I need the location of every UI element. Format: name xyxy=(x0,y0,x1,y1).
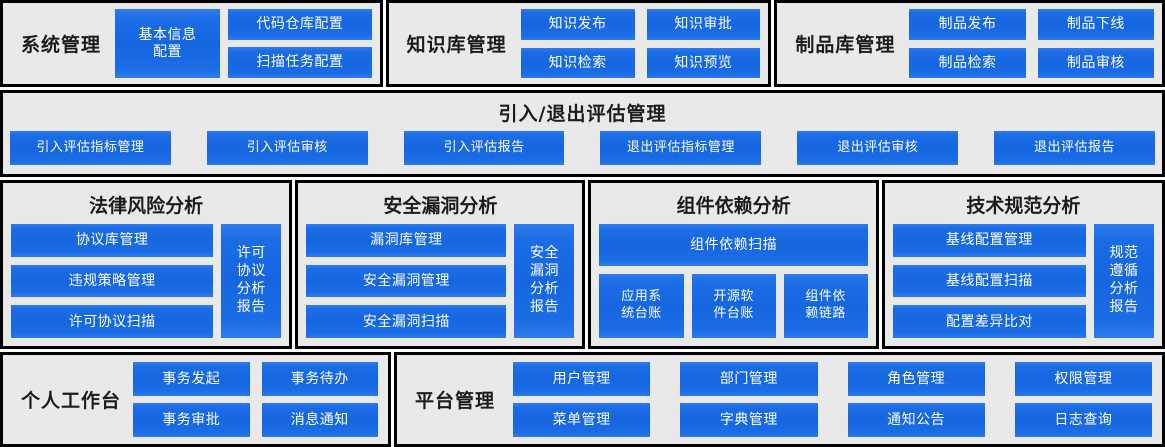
panel-legal-risk-analysis: 法律风险分析 协议库管理 违规策略管理 许可协议扫描 许可 协议 分析 报告 xyxy=(0,180,292,349)
button-role-management[interactable]: 角色管理 xyxy=(848,362,985,396)
button-code-repo-config[interactable]: 代码仓库配置 xyxy=(228,9,372,40)
button-vulnerability-library-management[interactable]: 漏洞库管理 xyxy=(306,224,506,257)
panel-title-component-dependency-analysis: 组件依赖分析 xyxy=(599,188,867,224)
button-config-difference-comparison[interactable]: 配置差异比对 xyxy=(893,305,1086,338)
button-menu-management[interactable]: 菜单管理 xyxy=(513,403,650,437)
button-artifact-offline[interactable]: 制品下线 xyxy=(1038,9,1154,40)
panel-title-knowledge-base-management: 知识库管理 xyxy=(397,30,511,57)
button-entry-eval-audit[interactable]: 引入评估审核 xyxy=(207,131,368,165)
button-license-agreement-scan[interactable]: 许可协议扫描 xyxy=(11,305,213,338)
button-task-todo[interactable]: 事务待办 xyxy=(262,362,379,396)
panel-component-dependency-analysis: 组件依赖分析 组件依赖扫描 应用系 统台账 开源软 件台账 组件依 赖链路 xyxy=(588,180,878,349)
button-log-query[interactable]: 日志查询 xyxy=(1015,403,1152,437)
panel-title-entry-exit-evaluation: 引入/退出评估管理 xyxy=(499,103,667,125)
row-top-modules: 系统管理 基本信息 配置 代码仓库配置 扫描任务配置 知识库管理 知识发布 知识… xyxy=(0,0,1165,87)
button-artifact-audit[interactable]: 制品审核 xyxy=(1038,48,1154,79)
button-entry-eval-report[interactable]: 引入评估报告 xyxy=(404,131,565,165)
button-exit-eval-report[interactable]: 退出评估报告 xyxy=(994,131,1155,165)
button-baseline-config-management[interactable]: 基线配置管理 xyxy=(893,224,1086,257)
button-component-dependency-scan[interactable]: 组件依赖扫描 xyxy=(599,224,867,266)
button-knowledge-approval[interactable]: 知识审批 xyxy=(647,9,761,40)
button-application-system-ledger[interactable]: 应用系 统台账 xyxy=(599,274,683,338)
button-knowledge-publish[interactable]: 知识发布 xyxy=(521,9,635,40)
button-security-vulnerability-analysis-report[interactable]: 安全 漏洞 分析 报告 xyxy=(514,224,574,338)
panel-artifact-repository-management: 制品库管理 制品发布 制品下线 制品检索 制品审核 xyxy=(774,0,1165,87)
panel-title-system-management: 系统管理 xyxy=(11,30,105,57)
architecture-diagram: 系统管理 基本信息 配置 代码仓库配置 扫描任务配置 知识库管理 知识发布 知识… xyxy=(0,0,1165,447)
button-department-management[interactable]: 部门管理 xyxy=(680,362,817,396)
button-exit-eval-audit[interactable]: 退出评估审核 xyxy=(797,131,958,165)
button-exit-eval-indicator-management[interactable]: 退出评估指标管理 xyxy=(600,131,761,165)
button-basic-info-config[interactable]: 基本信息 配置 xyxy=(115,9,220,78)
button-dictionary-management[interactable]: 字典管理 xyxy=(680,403,817,437)
panel-personal-workbench: 个人工作台 事务发起 事务待办 事务审批 消息通知 xyxy=(0,352,391,447)
button-knowledge-preview[interactable]: 知识预览 xyxy=(647,48,761,79)
button-task-approval[interactable]: 事务审批 xyxy=(133,403,249,437)
panel-security-vulnerability-analysis: 安全漏洞分析 漏洞库管理 安全漏洞管理 安全漏洞扫描 安全 漏洞 分析 报告 xyxy=(295,180,585,349)
button-security-vulnerability-scan[interactable]: 安全漏洞扫描 xyxy=(306,305,506,338)
button-license-agreement-analysis-report[interactable]: 许可 协议 分析 报告 xyxy=(221,224,281,338)
button-violation-policy-management[interactable]: 违规策略管理 xyxy=(11,265,213,298)
button-knowledge-search[interactable]: 知识检索 xyxy=(521,48,635,79)
button-security-vulnerability-management[interactable]: 安全漏洞管理 xyxy=(306,265,506,298)
button-permission-management[interactable]: 权限管理 xyxy=(1015,362,1152,396)
panel-knowledge-base-management: 知识库管理 知识发布 知识审批 知识检索 知识预览 xyxy=(386,0,772,87)
button-task-initiate[interactable]: 事务发起 xyxy=(133,362,249,396)
panel-title-technical-specification-analysis: 技术规范分析 xyxy=(893,188,1154,224)
row-analysis-modules: 法律风险分析 协议库管理 违规策略管理 许可协议扫描 许可 协议 分析 报告 安… xyxy=(0,180,1165,349)
row-bottom-modules: 个人工作台 事务发起 事务待办 事务审批 消息通知 平台管理 用户管理 部门管理… xyxy=(0,352,1165,447)
button-scan-task-config[interactable]: 扫描任务配置 xyxy=(228,47,372,78)
button-notice-announcement[interactable]: 通知公告 xyxy=(848,403,985,437)
panel-title-artifact-repository-management: 制品库管理 xyxy=(785,30,899,57)
panel-title-legal-risk-analysis: 法律风险分析 xyxy=(11,188,281,224)
button-agreement-library-management[interactable]: 协议库管理 xyxy=(11,224,213,257)
button-specification-compliance-analysis-report[interactable]: 规范 遵循 分析 报告 xyxy=(1094,224,1154,338)
button-entry-eval-indicator-management[interactable]: 引入评估指标管理 xyxy=(10,131,171,165)
button-artifact-publish[interactable]: 制品发布 xyxy=(909,9,1025,40)
button-baseline-config-scan[interactable]: 基线配置扫描 xyxy=(893,265,1086,298)
panel-title-platform-management: 平台管理 xyxy=(407,386,495,413)
panel-entry-exit-evaluation-management: 引入/退出评估管理 引入评估指标管理 引入评估审核 引入评估报告 退出评估指标管… xyxy=(0,90,1165,177)
panel-title-security-vulnerability-analysis: 安全漏洞分析 xyxy=(306,188,574,224)
panel-title-personal-workbench: 个人工作台 xyxy=(13,386,121,413)
panel-technical-specification-analysis: 技术规范分析 基线配置管理 基线配置扫描 配置差异比对 规范 遵循 分析 报告 xyxy=(882,180,1165,349)
button-user-management[interactable]: 用户管理 xyxy=(513,362,650,396)
button-open-source-software-ledger[interactable]: 开源软 件台账 xyxy=(692,274,776,338)
button-component-dependency-chain[interactable]: 组件依 赖链路 xyxy=(784,274,868,338)
button-artifact-search[interactable]: 制品检索 xyxy=(909,48,1025,79)
panel-platform-management: 平台管理 用户管理 部门管理 角色管理 权限管理 菜单管理 字典管理 通知公告 … xyxy=(394,352,1165,447)
panel-system-management: 系统管理 基本信息 配置 代码仓库配置 扫描任务配置 xyxy=(0,0,383,87)
button-message-notification[interactable]: 消息通知 xyxy=(262,403,379,437)
